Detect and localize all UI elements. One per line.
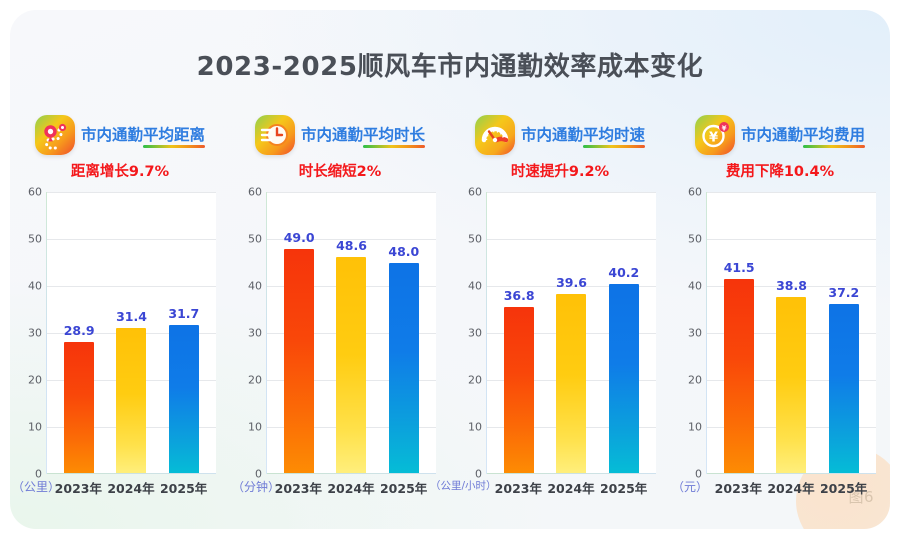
- bar-slot: 37.2: [829, 192, 859, 474]
- x-tick-label: 2023年: [54, 478, 102, 498]
- plot-2: 49.048.648.0: [266, 192, 436, 474]
- bar-slot: 31.4: [116, 192, 146, 474]
- bar-group-3: 36.839.640.2: [487, 192, 656, 474]
- bar-2023年[interactable]: 36.8: [504, 307, 534, 474]
- x-tick-label: 2023年: [274, 478, 322, 498]
- x-tick-label: 2025年: [380, 478, 428, 498]
- y-tick: 60: [248, 186, 262, 199]
- y-tick: 30: [28, 327, 42, 340]
- x-tick-label: 2025年: [600, 478, 648, 498]
- panel-title-prefix: 市内通勤: [741, 126, 803, 144]
- y-tick: 30: [248, 327, 262, 340]
- bar-2025年[interactable]: 40.2: [609, 284, 639, 474]
- x-tick-label: 2024年: [767, 478, 815, 498]
- y-tick: 50: [28, 233, 42, 246]
- bar-2025年[interactable]: 31.7: [169, 325, 199, 475]
- x-tick-label: 2024年: [327, 478, 375, 498]
- y-tick: 30: [468, 327, 482, 340]
- panel-title-prefix: 市内通勤: [81, 126, 143, 144]
- bar-value-label: 37.2: [828, 285, 859, 300]
- y-tick: 60: [28, 186, 42, 199]
- bar-value-label: 39.6: [556, 275, 587, 290]
- unit-label-1: （公里）: [10, 478, 50, 495]
- y-axis-1: 6050403020100: [16, 192, 42, 474]
- bar-slot: 48.0: [389, 192, 419, 474]
- y-tick: 20: [468, 374, 482, 387]
- page-title: 2023-2025顺风车市内通勤效率成本变化: [10, 46, 890, 83]
- svg-text:¥: ¥: [722, 125, 727, 133]
- bar-slot: 36.8: [504, 192, 534, 474]
- panel-header-3: 市内通勤平均时速: [450, 112, 670, 158]
- panel-title-keyword: 平均费用: [803, 123, 865, 145]
- panel-title-prefix: 市内通勤: [521, 126, 583, 144]
- plot-4: 41.538.837.2: [706, 192, 876, 474]
- plot-3: 36.839.640.2: [486, 192, 656, 474]
- plot-1: 28.931.431.7: [46, 192, 216, 474]
- bar-value-label: 48.0: [388, 244, 419, 259]
- panel-subtitle-4: 费用下降10.4%: [670, 160, 890, 181]
- x-tick-label: 2023年: [494, 478, 542, 498]
- y-tick: 50: [688, 233, 702, 246]
- y-tick: 10: [28, 421, 42, 434]
- y-tick: 10: [688, 421, 702, 434]
- y-tick: 50: [468, 233, 482, 246]
- bar-2024年[interactable]: 38.8: [776, 297, 806, 474]
- chart-panel-3: 市内通勤平均时速时速提升9.2%605040302010036.839.640.…: [450, 102, 670, 512]
- bar-value-label: 28.9: [64, 323, 95, 338]
- bar-value-label: 31.7: [168, 306, 199, 321]
- bar-slot: 49.0: [284, 192, 314, 474]
- y-tick: 10: [248, 421, 262, 434]
- y-tick: 40: [468, 280, 482, 293]
- chart-panel-2: 市内通勤平均时长时长缩短2%605040302010049.048.648.0（…: [230, 102, 450, 512]
- y-tick: 40: [248, 280, 262, 293]
- y-tick: 20: [248, 374, 262, 387]
- bar-slot: 41.5: [724, 192, 754, 474]
- unit-label-3: （公里/小时）: [428, 478, 490, 493]
- plot-area-1: 605040302010028.931.431.7: [10, 192, 230, 474]
- panel-title-2: 市内通勤平均时长: [301, 123, 425, 148]
- bar-value-label: 49.0: [284, 230, 315, 245]
- panel-title-3: 市内通勤平均时速: [521, 123, 645, 148]
- y-tick: 50: [248, 233, 262, 246]
- panel-title-4: 市内通勤平均费用: [741, 123, 865, 148]
- bar-slot: 48.6: [336, 192, 366, 474]
- y-tick: 20: [688, 374, 702, 387]
- chart-panel-1: 市内通勤平均距离距离增长9.7%605040302010028.931.431.…: [10, 102, 230, 512]
- panel-title-keyword: 平均时长: [363, 123, 425, 145]
- x-axis-4: 2023年2024年2025年: [706, 478, 876, 498]
- speedometer-icon: [475, 115, 515, 155]
- y-axis-3: 6050403020100: [456, 192, 482, 474]
- chart-panel-4: ¥¥市内通勤平均费用费用下降10.4%605040302010041.538.8…: [670, 102, 890, 512]
- x-axis-1: 2023年2024年2025年: [46, 478, 216, 498]
- bar-value-label: 40.2: [608, 265, 639, 280]
- y-tick: 20: [28, 374, 42, 387]
- x-tick-label: 2025年: [820, 478, 868, 498]
- x-tick-label: 2024年: [107, 478, 155, 498]
- bar-value-label: 48.6: [336, 238, 367, 253]
- y-axis-4: 6050403020100: [676, 192, 702, 474]
- x-tick-label: 2024年: [547, 478, 595, 498]
- bar-2023年[interactable]: 49.0: [284, 249, 314, 474]
- bar-group-2: 49.048.648.0: [267, 192, 436, 474]
- panel-subtitle-1: 距离增长9.7%: [10, 160, 230, 181]
- bar-2024年[interactable]: 31.4: [116, 328, 146, 474]
- y-tick: 30: [688, 327, 702, 340]
- bar-slot: 38.8: [776, 192, 806, 474]
- bar-2023年[interactable]: 41.5: [724, 279, 754, 474]
- panel-subtitle-2: 时长缩短2%: [230, 160, 450, 181]
- chart-card: 图6 2023-2025顺风车市内通勤效率成本变化 市内通勤平均距离距离增长9.…: [10, 10, 890, 529]
- bar-2023年[interactable]: 28.9: [64, 342, 94, 474]
- bar-2025年[interactable]: 37.2: [829, 304, 859, 474]
- plot-area-4: 605040302010041.538.837.2: [670, 192, 890, 474]
- panel-title-1: 市内通勤平均距离: [81, 123, 205, 148]
- bar-group-4: 41.538.837.2: [707, 192, 876, 474]
- x-tick-label: 2025年: [160, 478, 208, 498]
- panel-subtitle-3: 时速提升9.2%: [450, 160, 670, 181]
- panel-title-keyword: 平均时速: [583, 123, 645, 145]
- y-tick: 60: [468, 186, 482, 199]
- bar-slot: 28.9: [64, 192, 94, 474]
- bar-slot: 40.2: [609, 192, 639, 474]
- yuan-coin-icon: ¥¥: [695, 115, 735, 155]
- x-axis-3: 2023年2024年2025年: [486, 478, 656, 498]
- bar-2024年[interactable]: 48.6: [336, 257, 366, 474]
- y-tick: 40: [688, 280, 702, 293]
- panel-header-2: 市内通勤平均时长: [230, 112, 450, 158]
- unit-label-4: （元）: [670, 478, 710, 495]
- clock-speed-icon: [255, 115, 295, 155]
- x-tick-label: 2023年: [714, 478, 762, 498]
- panel-title-keyword: 平均距离: [143, 123, 205, 145]
- x-axis-2: 2023年2024年2025年: [266, 478, 436, 498]
- chart-canvas: 图6 2023-2025顺风车市内通勤效率成本变化 市内通勤平均距离距离增长9.…: [0, 0, 900, 539]
- unit-label-2: （分钟）: [230, 478, 270, 495]
- bar-value-label: 41.5: [724, 260, 755, 275]
- plot-area-2: 605040302010049.048.648.0: [230, 192, 450, 474]
- y-tick: 40: [28, 280, 42, 293]
- bar-2024年[interactable]: 39.6: [556, 294, 586, 474]
- bar-2025年[interactable]: 48.0: [389, 263, 419, 475]
- svg-text:¥: ¥: [709, 131, 718, 146]
- bar-slot: 39.6: [556, 192, 586, 474]
- panel-header-1: 市内通勤平均距离: [10, 112, 230, 158]
- panel-title-prefix: 市内通勤: [301, 126, 363, 144]
- plot-area-3: 605040302010036.839.640.2: [450, 192, 670, 474]
- y-axis-2: 6050403020100: [236, 192, 262, 474]
- bar-value-label: 36.8: [504, 288, 535, 303]
- panels-row: 市内通勤平均距离距离增长9.7%605040302010028.931.431.…: [10, 102, 890, 512]
- bar-value-label: 38.8: [776, 278, 807, 293]
- y-tick: 60: [688, 186, 702, 199]
- bar-group-1: 28.931.431.7: [47, 192, 216, 474]
- route-pin-icon: [35, 115, 75, 155]
- bar-value-label: 31.4: [116, 309, 147, 324]
- panel-header-4: ¥¥市内通勤平均费用: [670, 112, 890, 158]
- y-tick: 10: [468, 421, 482, 434]
- bar-slot: 31.7: [169, 192, 199, 474]
